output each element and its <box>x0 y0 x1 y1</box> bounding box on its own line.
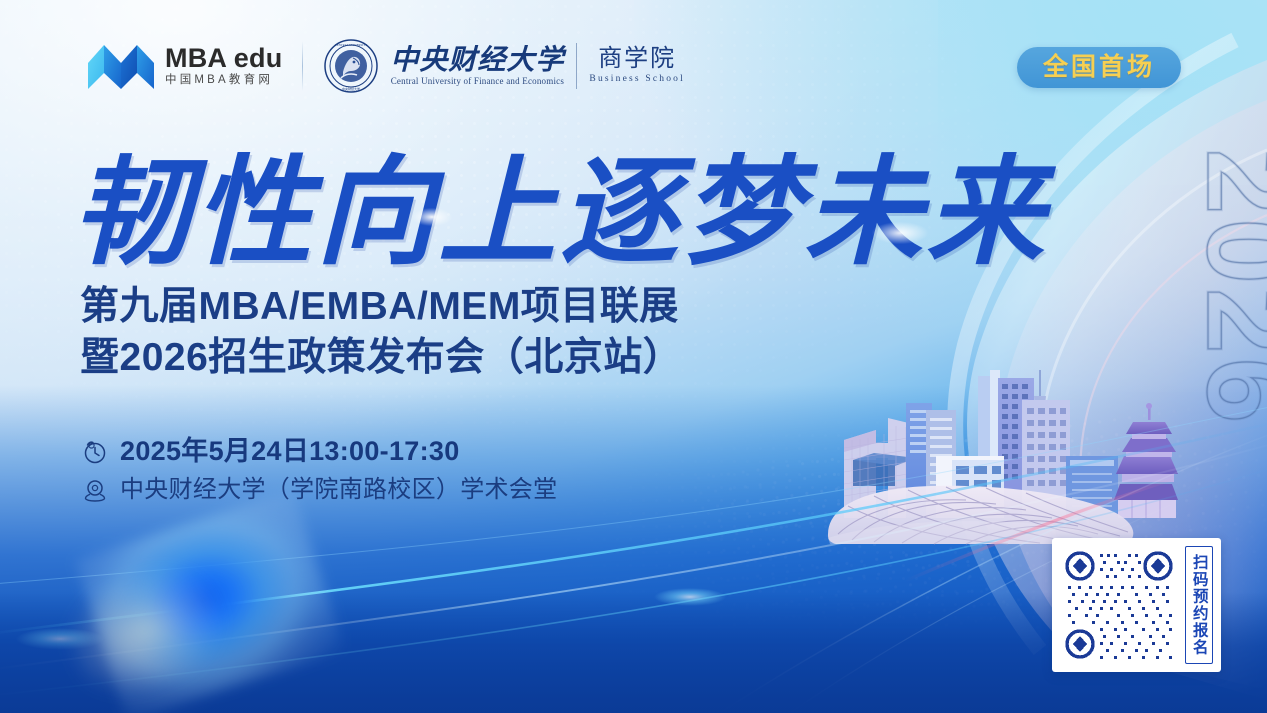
event-location-text: 中央财经大学（学院南路校区）学术会堂 <box>120 478 557 502</box>
qr-caption-text: 扫码预约报名 <box>1191 554 1207 656</box>
cufe-seal-icon: CENTRAL UNIVERSITY 中央财经大学 <box>323 38 379 94</box>
status-badge: 全国首场 <box>1017 47 1181 88</box>
qr-registration-card[interactable]: 扫码预约报名 <box>1052 538 1221 672</box>
subtitle-line-1: 第九届MBA/EMBA/MEM项目联展 <box>80 281 682 332</box>
status-badge-label: 全国首场 <box>1043 53 1155 81</box>
mba-logo-subtitle: 中国MBA教育网 <box>165 75 282 87</box>
event-date-text: 2025年5月24日13:00-17:30 <box>120 438 460 465</box>
svg-text:中央财经大学: 中央财经大学 <box>342 86 360 91</box>
calligraphy-part-1: 韧性向上 <box>72 116 560 287</box>
qr-caption-panel: 扫码预约报名 <box>1185 546 1213 664</box>
event-info: 2025年5月24日13:00-17:30 中央财经大学（学院南路校区）学术会堂 <box>82 438 557 503</box>
subtitle-line-2: 暨2026招生政策发布会（北京站） <box>80 332 682 383</box>
event-location-row: 中央财经大学（学院南路校区）学术会堂 <box>82 477 557 503</box>
cufe-school-cn: 商学院 <box>598 47 676 71</box>
cufe-school-en: Business School <box>589 75 685 85</box>
event-subtitle: 第九届MBA/EMBA/MEM项目联展 暨2026招生政策发布会（北京站） <box>80 281 682 384</box>
clock-icon <box>82 439 108 465</box>
header-logos: MBA edu 中国MBA教育网 CENTRAL UNIVERSITY 中央财经 <box>88 38 685 94</box>
header-divider <box>302 41 303 91</box>
mba-chevron-logo-icon <box>88 43 154 89</box>
calligraphy-flare-right <box>872 222 928 244</box>
svg-text:CENTRAL UNIVERSITY: CENTRAL UNIVERSITY <box>335 43 368 47</box>
calligraphy-part-2: 逐梦未来 <box>560 116 1048 287</box>
calligraphy-flare-left <box>412 208 452 226</box>
poster-canvas: 2026 2026 <box>0 0 1267 713</box>
calligraphy-title-text: 韧性向上 逐梦未来 <box>72 126 972 276</box>
cufe-logo[interactable]: CENTRAL UNIVERSITY 中央财经大学 中央财经大学 Central… <box>323 38 685 94</box>
location-pin-icon <box>82 477 108 503</box>
mba-logo-title: MBA edu <box>165 45 282 72</box>
qr-code-icon[interactable] <box>1060 546 1178 664</box>
cufe-name-cn: 中央财经大学 <box>390 47 564 75</box>
cufe-name-en: Central University of Finance and Econom… <box>391 77 564 86</box>
calligraphy-title: 韧性向上 逐梦未来 <box>72 126 972 276</box>
mba-edu-logo[interactable]: MBA edu 中国MBA教育网 <box>88 43 282 89</box>
event-date-row: 2025年5月24日13:00-17:30 <box>82 438 557 465</box>
cufe-divider <box>576 43 577 89</box>
